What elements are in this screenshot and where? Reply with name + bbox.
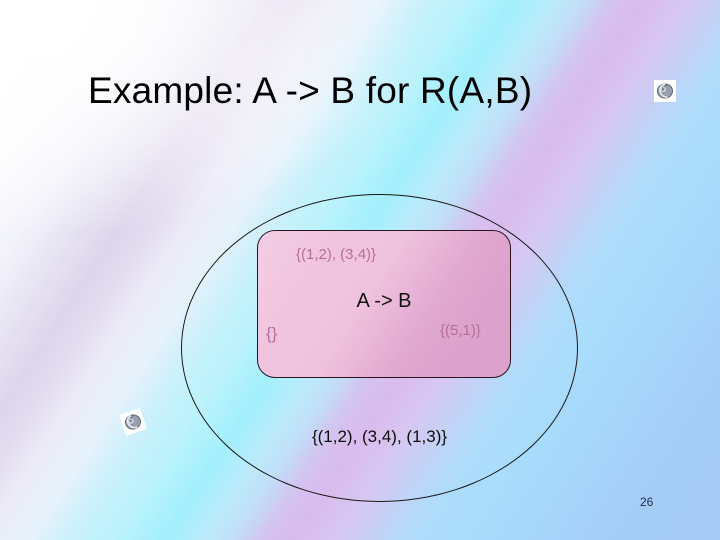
slide-title: Example: A -> B for R(A,B) <box>88 68 648 114</box>
fd-box-left-label: {} <box>266 325 277 342</box>
page-number: 26 <box>640 495 680 509</box>
slide-canvas: Example: A -> B for R(A,B) {(1,2), (3,4)… <box>0 0 720 540</box>
fd-box-right-label: {(5,1)} <box>440 323 481 338</box>
fd-box: {(1,2), (3,4)} A -> B {} {(5,1)} <box>257 230 511 378</box>
relation-ellipse-label: {(1,2), (3,4), (1,3)} <box>181 428 578 445</box>
fd-box-top-label: {(1,2), (3,4)} <box>296 247 376 262</box>
shell-swirl-icon <box>654 80 676 102</box>
fd-box-center-label: A -> B <box>258 291 510 311</box>
